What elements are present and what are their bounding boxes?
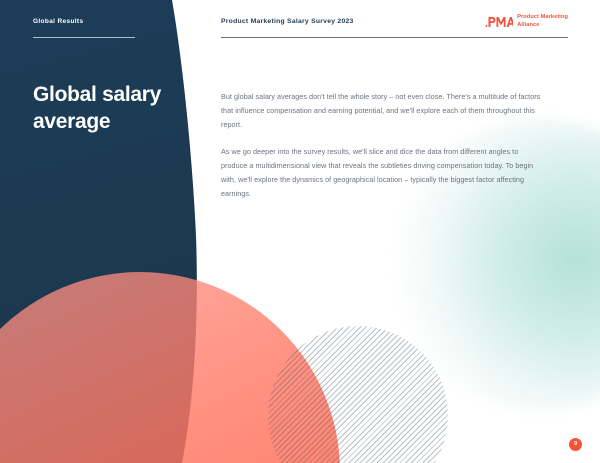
section-label-group: Global Results bbox=[33, 18, 178, 38]
pma-logo-icon bbox=[485, 15, 513, 28]
body-paragraph-2: As we go deeper into the survey results,… bbox=[221, 145, 541, 201]
page-title: Global salary average bbox=[33, 82, 198, 136]
kicker-divider bbox=[33, 37, 135, 38]
logo-wordmark-line1: Product Marketing bbox=[517, 14, 568, 20]
slide-content: Global Results Global salary average Pro… bbox=[0, 0, 600, 463]
section-kicker: Global Results bbox=[33, 18, 178, 25]
header-divider bbox=[221, 37, 568, 38]
body-copy: But global salary averages don't tell th… bbox=[221, 90, 541, 201]
logo-wordmark-line2: Alliance bbox=[517, 22, 539, 28]
brand-logo: Product Marketing Alliance bbox=[485, 14, 568, 29]
body-paragraph-1: But global salary averages don't tell th… bbox=[221, 90, 541, 132]
slide-canvas: Global Results Global salary average Pro… bbox=[0, 0, 600, 463]
page-number-badge: 9 bbox=[569, 438, 582, 451]
logo-wordmark: Product Marketing Alliance bbox=[517, 14, 568, 29]
